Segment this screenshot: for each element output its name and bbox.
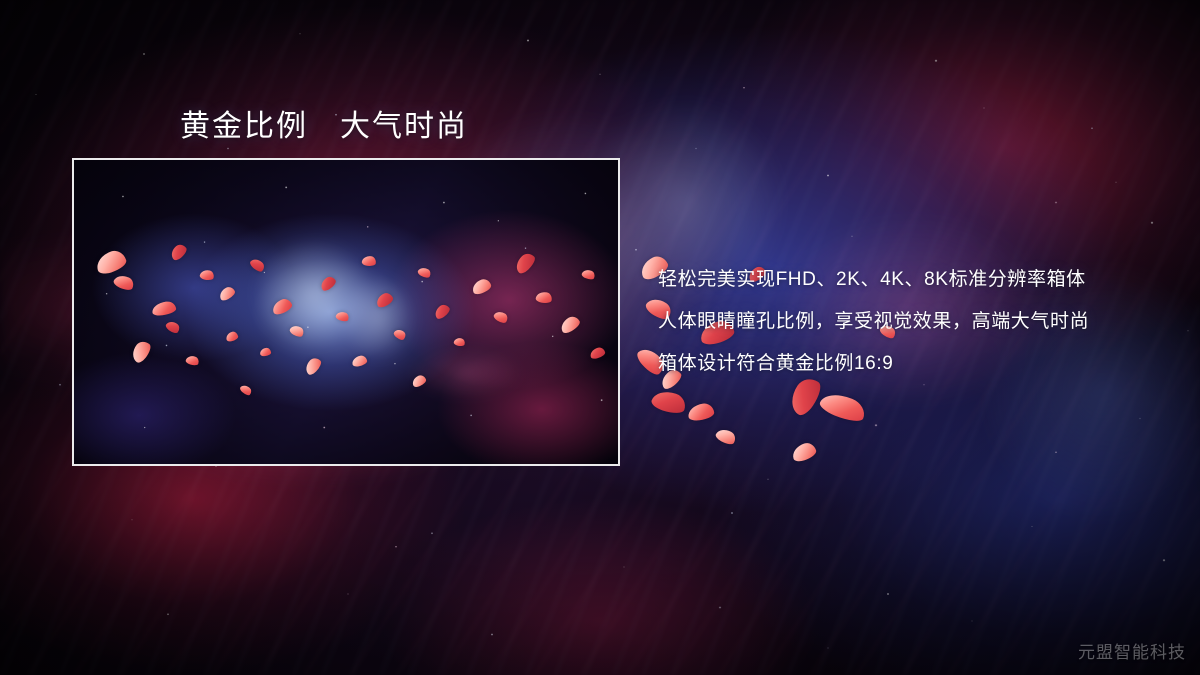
- preview-starfield: [74, 160, 618, 464]
- preview-image-frame: [72, 158, 620, 466]
- body-line-1: 轻松完美实现FHD、2K、4K、8K标准分辨率箱体: [658, 259, 1158, 301]
- watermark-text: 元盟智能科技: [1078, 638, 1186, 663]
- page-title: 黄金比例 大气时尚: [180, 101, 468, 145]
- body-line-3: 箱体设计符合黄金比例16:9: [658, 343, 1158, 385]
- body-line-2: 人体眼睛瞳孔比例，享受视觉效果，高端大气时尚: [658, 301, 1158, 343]
- presentation-slide: 黄金比例 大气时尚: [0, 0, 1200, 675]
- body-copy-block: 轻松完美实现FHD、2K、4K、8K标准分辨率箱体 人体眼睛瞳孔比例，享受视觉效…: [658, 259, 1158, 385]
